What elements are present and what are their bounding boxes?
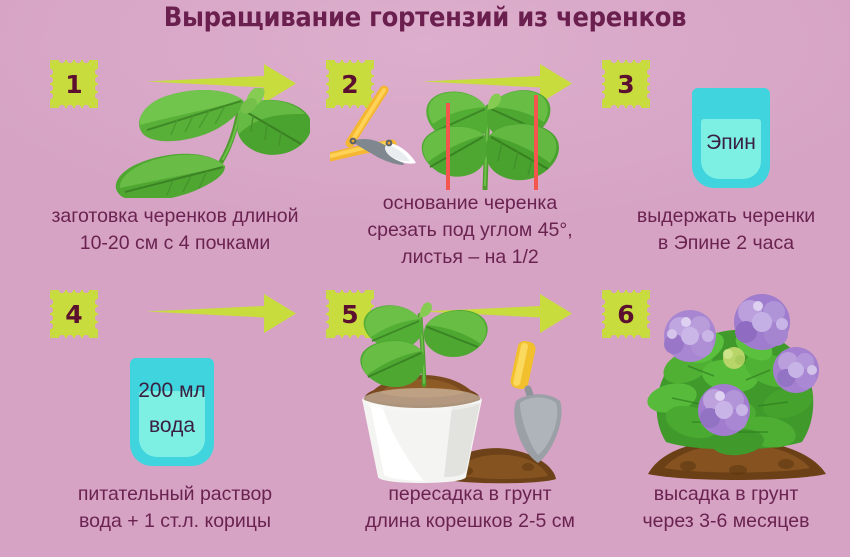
step-caption-1: заготовка черенков длиной 10-20 см с 4 п… xyxy=(10,203,340,257)
page-title: Выращивание гортензий из черенков xyxy=(43,2,808,33)
step-number-3: 3 xyxy=(617,72,634,97)
leaf-icon xyxy=(139,90,243,141)
illustration-cutting-with-leaves xyxy=(95,88,310,198)
trowel-icon xyxy=(509,340,561,463)
caption-line: питательный раствор xyxy=(10,481,340,508)
illustration-hydrangea-bush xyxy=(630,292,845,482)
seedling-icon xyxy=(360,302,487,387)
illustration-pot-with-seedling-and-trowel xyxy=(340,295,600,485)
illustration-glass-of-water: 200 мл вода xyxy=(130,358,214,466)
step-badge-4: 4 xyxy=(50,290,98,338)
caption-line: выдержать черенки xyxy=(602,203,850,230)
caption-line: через 3-6 месяцев xyxy=(602,508,850,535)
glass-label-epin: Эпин xyxy=(692,132,770,153)
flower-pot-icon xyxy=(362,388,482,483)
leaf-icon xyxy=(422,126,487,177)
bud-icon xyxy=(419,302,432,317)
step-caption-6: высадка в грунт через 3-6 месяцев xyxy=(602,481,850,535)
leaf-icon xyxy=(424,310,488,357)
leaf-icon xyxy=(116,154,225,198)
caption-line: срезать под углом 45°, xyxy=(330,217,610,244)
glass-label-water: вода xyxy=(130,415,214,436)
pruning-shears-icon xyxy=(330,90,416,165)
arrow-step-4-to-5 xyxy=(146,292,296,336)
flower-bud-icon xyxy=(723,347,745,369)
step-caption-4: питательный раствор вода + 1 ст.л. кориц… xyxy=(10,481,340,535)
leaf-icon xyxy=(486,123,559,180)
caption-line: в Эпине 2 часа xyxy=(602,230,850,257)
step-number-1: 1 xyxy=(65,72,82,97)
step-number-4: 4 xyxy=(65,302,82,327)
step-badge-3: 3 xyxy=(602,60,650,108)
step-caption-3: выдержать черенки в Эпине 2 часа xyxy=(602,203,850,257)
caption-line: 10-20 см с 4 почками xyxy=(10,230,340,257)
caption-line: пересадка в грунт xyxy=(330,481,610,508)
illustration-glass-of-epin: Эпин xyxy=(692,88,770,188)
step-caption-5: пересадка в грунт длина корешков 2-5 см xyxy=(330,481,610,535)
caption-line: высадка в грунт xyxy=(602,481,850,508)
illustration-pruning-shears-and-cutting xyxy=(330,85,600,190)
leaf-icon xyxy=(360,340,424,387)
infographic-poster: Выращивание гортензий из черенков 1 xyxy=(0,0,850,557)
glass-label-volume: 200 мл xyxy=(130,380,214,401)
hydrangea-flower-icon xyxy=(734,294,790,350)
caption-line: основание черенка xyxy=(330,190,610,217)
caption-line: вода + 1 ст.л. корицы xyxy=(10,508,340,535)
caption-line: заготовка черенков длиной xyxy=(10,203,340,230)
hydrangea-flower-icon xyxy=(664,310,716,362)
hydrangea-flower-icon xyxy=(698,384,750,436)
caption-line: листья – на 1/2 xyxy=(330,244,610,271)
caption-line: длина корешков 2-5 см xyxy=(330,508,610,535)
hydrangea-flower-icon xyxy=(773,347,819,393)
step-caption-2: основание черенка срезать под углом 45°,… xyxy=(330,190,610,271)
step-badge-1: 1 xyxy=(50,60,98,108)
